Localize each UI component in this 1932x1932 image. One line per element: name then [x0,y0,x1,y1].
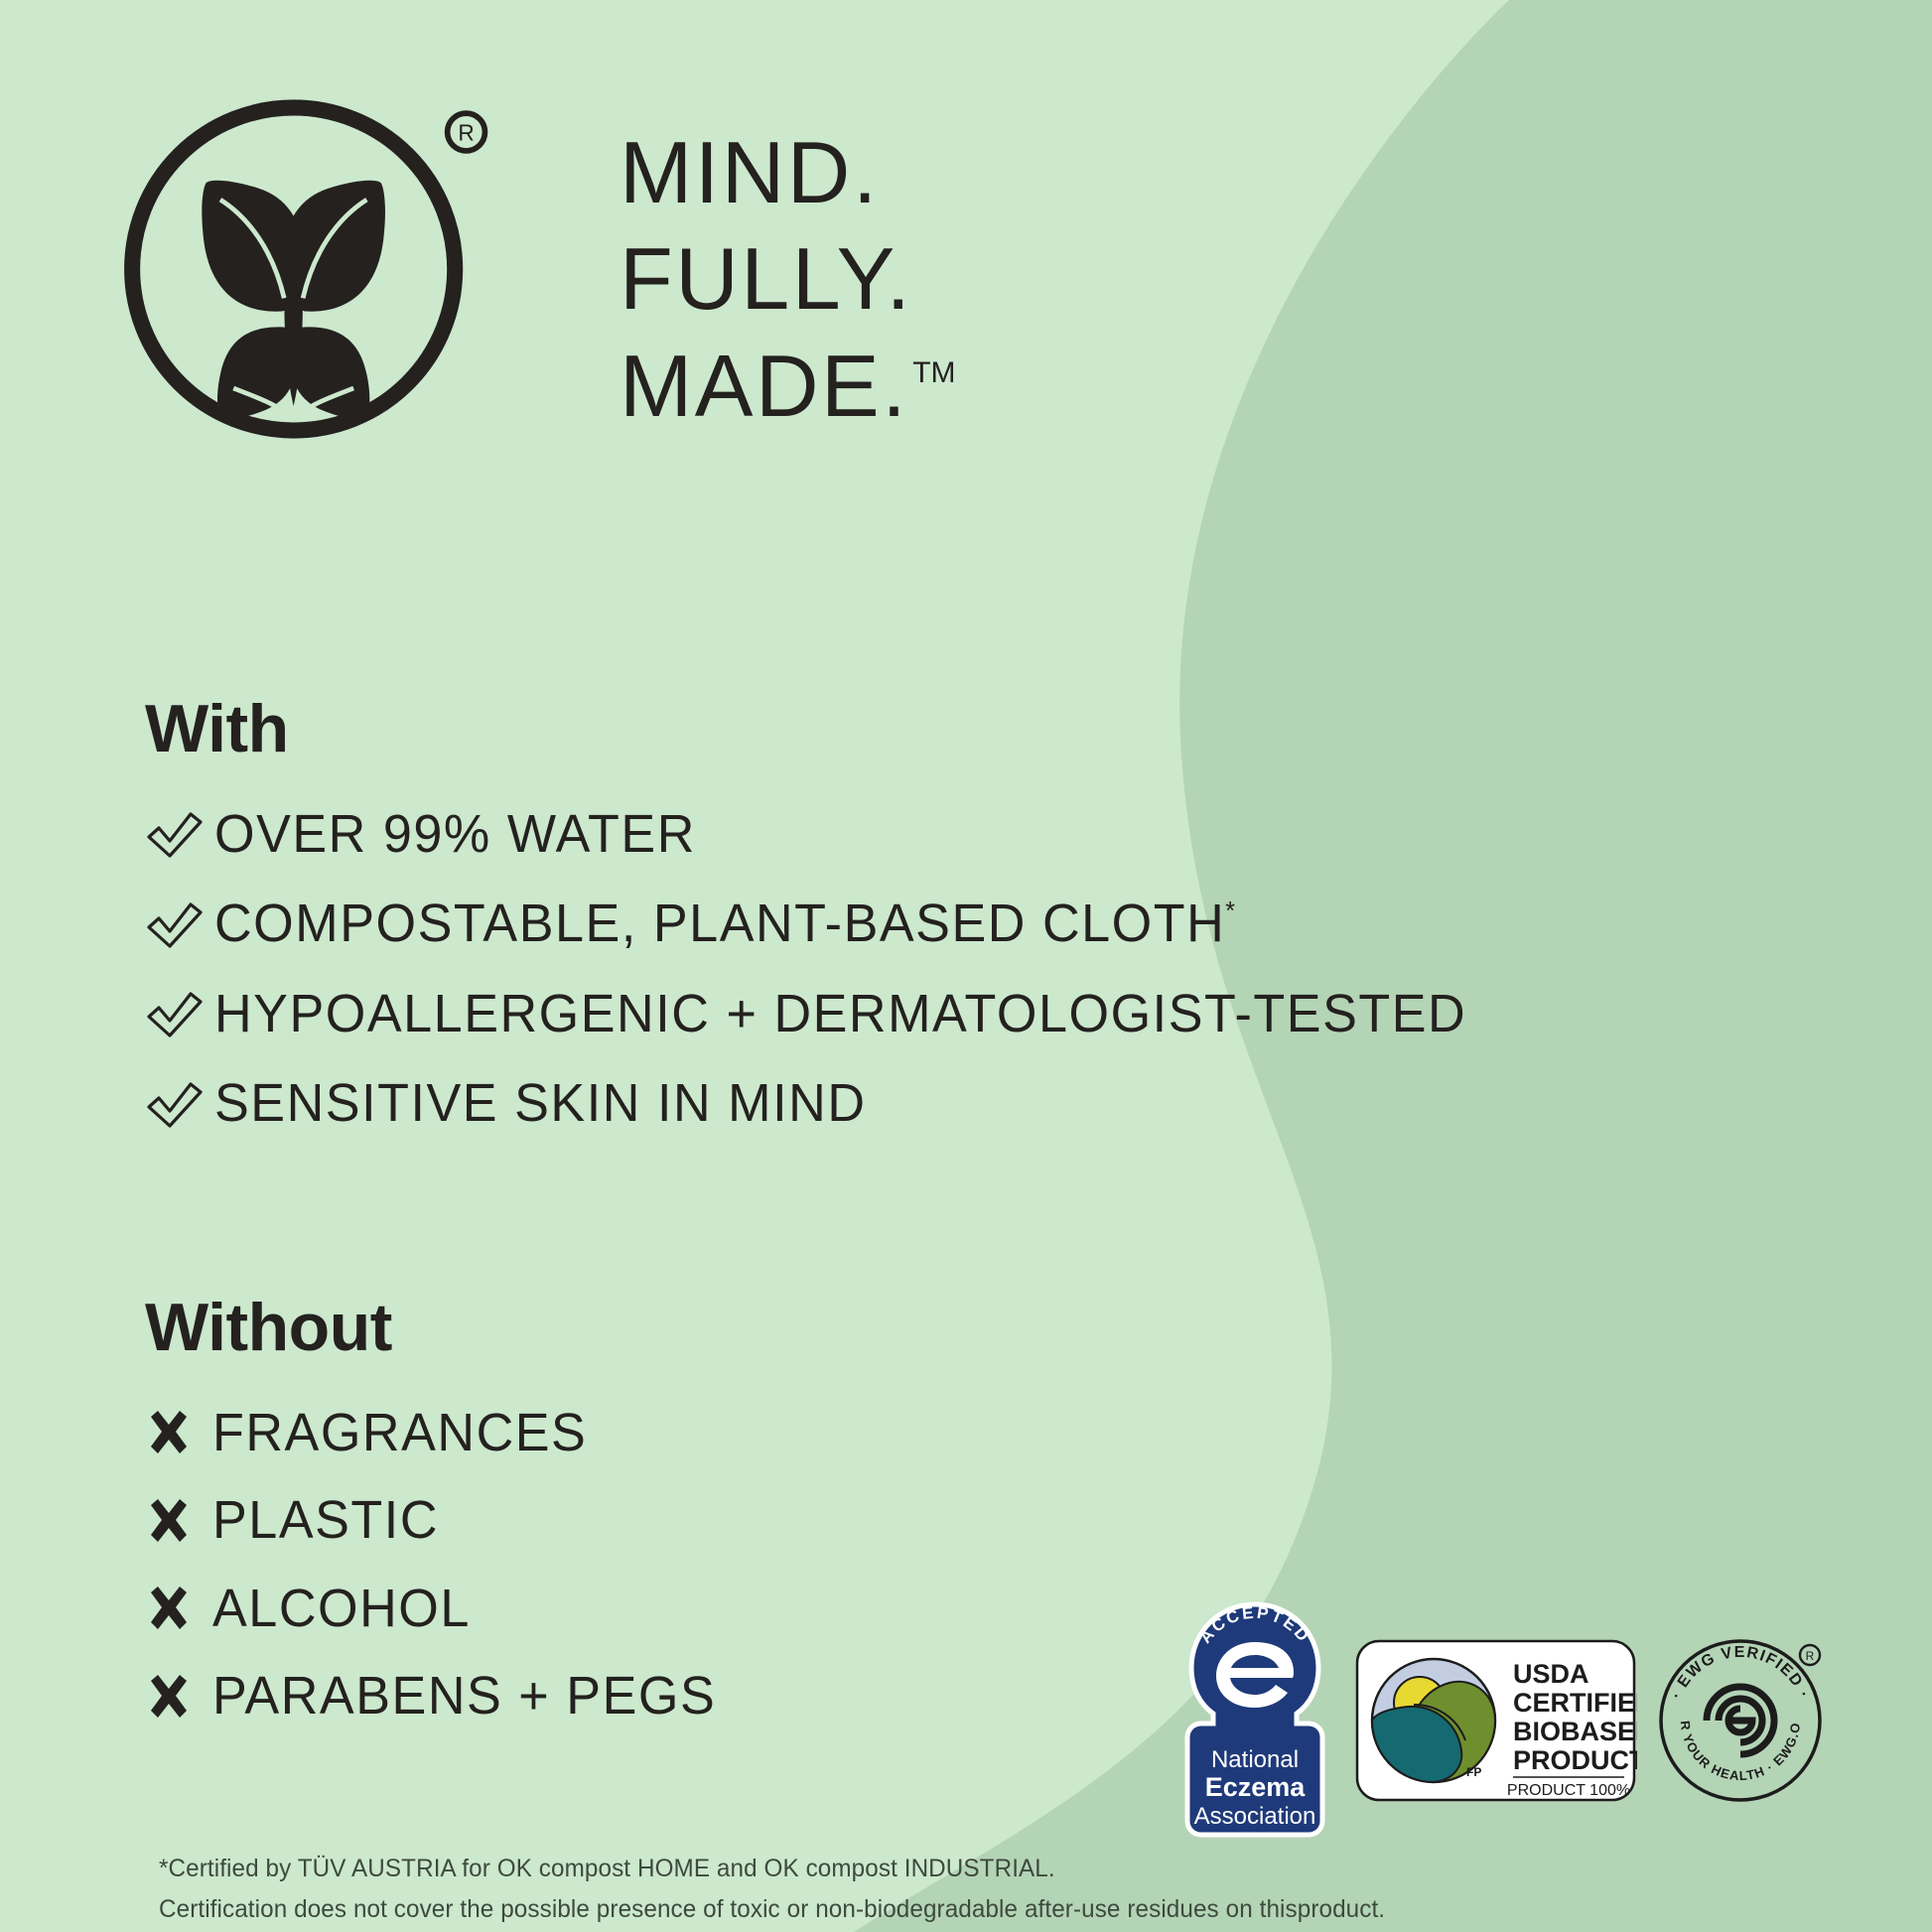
outlined-check-icon [145,1077,214,1131]
badge-line-1: USDA [1513,1659,1589,1689]
butterfly-in-circle-logo: R [117,81,492,457]
without-item-text: ALCOHOL [212,1579,471,1638]
eczema-e-glyph [1216,1642,1294,1708]
without-section: Without FRAGRANCES PLASTIC [145,1294,1138,1754]
registered-trademark-icon: R [448,113,485,151]
list-item: SENSITIVE SKIN IN MIND [145,1073,1386,1133]
national-eczema-association-badge: ACCEPTED National Eczema Association [1170,1596,1340,1845]
wordmark-line-3: MADE.TM [620,333,956,439]
ewg-spiral-e-icon [1707,1687,1774,1754]
footnote: *Certified by TÜV AUSTRIA for OK compost… [159,1849,1385,1929]
without-item-label: ALCOHOL [212,1579,471,1638]
usda-certified-biobased-product-badge: FP USDA CERTIFIED BIOBASED PRODUCT PRODU… [1354,1631,1637,1810]
list-item: PLASTIC [145,1490,1138,1550]
badge-line-1: National [1211,1746,1299,1773]
without-item-label: FRAGRANCES [212,1403,587,1462]
with-item-label: OVER 99% WATER [214,804,696,864]
without-item-label: PARABENS + PEGS [212,1666,716,1725]
svg-text:R: R [458,120,474,146]
badge-line-2: CERTIFIED [1513,1688,1637,1718]
with-item-text: HYPOALLERGENIC + DERMATOLOGIST-TESTED [214,984,1466,1043]
with-item-label: HYPOALLERGENIC + DERMATOLOGIST-TESTED [214,984,1466,1043]
bold-x-icon [145,1409,212,1456]
badge-line-3: BIOBASED [1513,1717,1637,1746]
registered-trademark-icon: R [1800,1645,1820,1665]
ewg-verified-badge: · EWG VERIFIED · · FOR YOUR HEALTH · EWG… [1651,1631,1830,1810]
without-item-text: FRAGRANCES [212,1403,587,1462]
with-item-text: SENSITIVE SKIN IN MIND [214,1073,867,1133]
with-section-title: With [145,695,1386,762]
badge-line-4: PRODUCT [1513,1745,1637,1775]
without-items-list: FRAGRANCES PLASTIC ALCOHOL [145,1403,1138,1726]
with-item-note: * [1225,896,1235,925]
list-item: PARABENS + PEGS [145,1666,1138,1725]
footnote-line-1: *Certified by TÜV AUSTRIA for OK compost… [159,1849,1385,1889]
bold-x-icon [145,1497,212,1545]
svg-text:R: R [1806,1649,1815,1663]
wordmark-line-2: FULLY. [620,225,956,332]
with-item-text: OVER 99% WATER [214,804,696,864]
badge-corner-mark: FP [1466,1765,1481,1779]
wordmark-line-1: MIND. [620,119,956,225]
list-item: OVER 99% WATER [145,804,1386,864]
without-item-label: PLASTIC [212,1490,439,1550]
outlined-check-icon [145,987,214,1040]
outlined-check-icon [145,897,214,951]
list-item: ALCOHOL [145,1579,1138,1638]
without-item-text: PARABENS + PEGS [212,1666,716,1725]
footnote-line-2: Certification does not cover the possibl… [159,1889,1385,1930]
badge-line-3: Association [1194,1803,1316,1830]
trademark-mark: TM [912,356,955,389]
list-item: COMPOSTABLE, PLANT-BASED CLOTH* [145,894,1386,953]
wordmark-line-3-text: MADE. [620,337,908,435]
list-item: FRAGRANCES [145,1403,1138,1462]
brand-wordmark: MIND. FULLY. MADE.TM [620,119,956,439]
badge-arc-top: · EWG VERIFIED · [1668,1644,1812,1702]
bold-x-icon [145,1673,212,1721]
with-item-label: COMPOSTABLE, PLANT-BASED CLOTH* [214,894,1235,953]
certification-badges: ACCEPTED National Eczema Association FP [1170,1596,1830,1845]
with-item-label: SENSITIVE SKIN IN MIND [214,1073,867,1133]
usda-landscape-icon: FP [1372,1659,1495,1782]
with-item-text: COMPOSTABLE, PLANT-BASED CLOTH [214,894,1225,953]
without-item-text: PLASTIC [212,1490,439,1550]
with-section: With OVER 99% WATER COMPOSTABLE, PLANT-B… [145,695,1386,1134]
product-claims-graphic: R MIND. FULLY. MADE.TM With OVER 99% WAT… [0,0,1932,1932]
bold-x-icon [145,1585,212,1632]
outlined-check-icon [145,807,214,861]
badge-line-2: Eczema [1205,1772,1307,1802]
badge-subline: PRODUCT 100% [1507,1782,1630,1799]
list-item: HYPOALLERGENIC + DERMATOLOGIST-TESTED [145,984,1386,1043]
without-section-title: Without [145,1294,1138,1361]
brand-lockup: R MIND. FULLY. MADE.TM [117,81,956,457]
with-items-list: OVER 99% WATER COMPOSTABLE, PLANT-BASED … [145,804,1386,1134]
